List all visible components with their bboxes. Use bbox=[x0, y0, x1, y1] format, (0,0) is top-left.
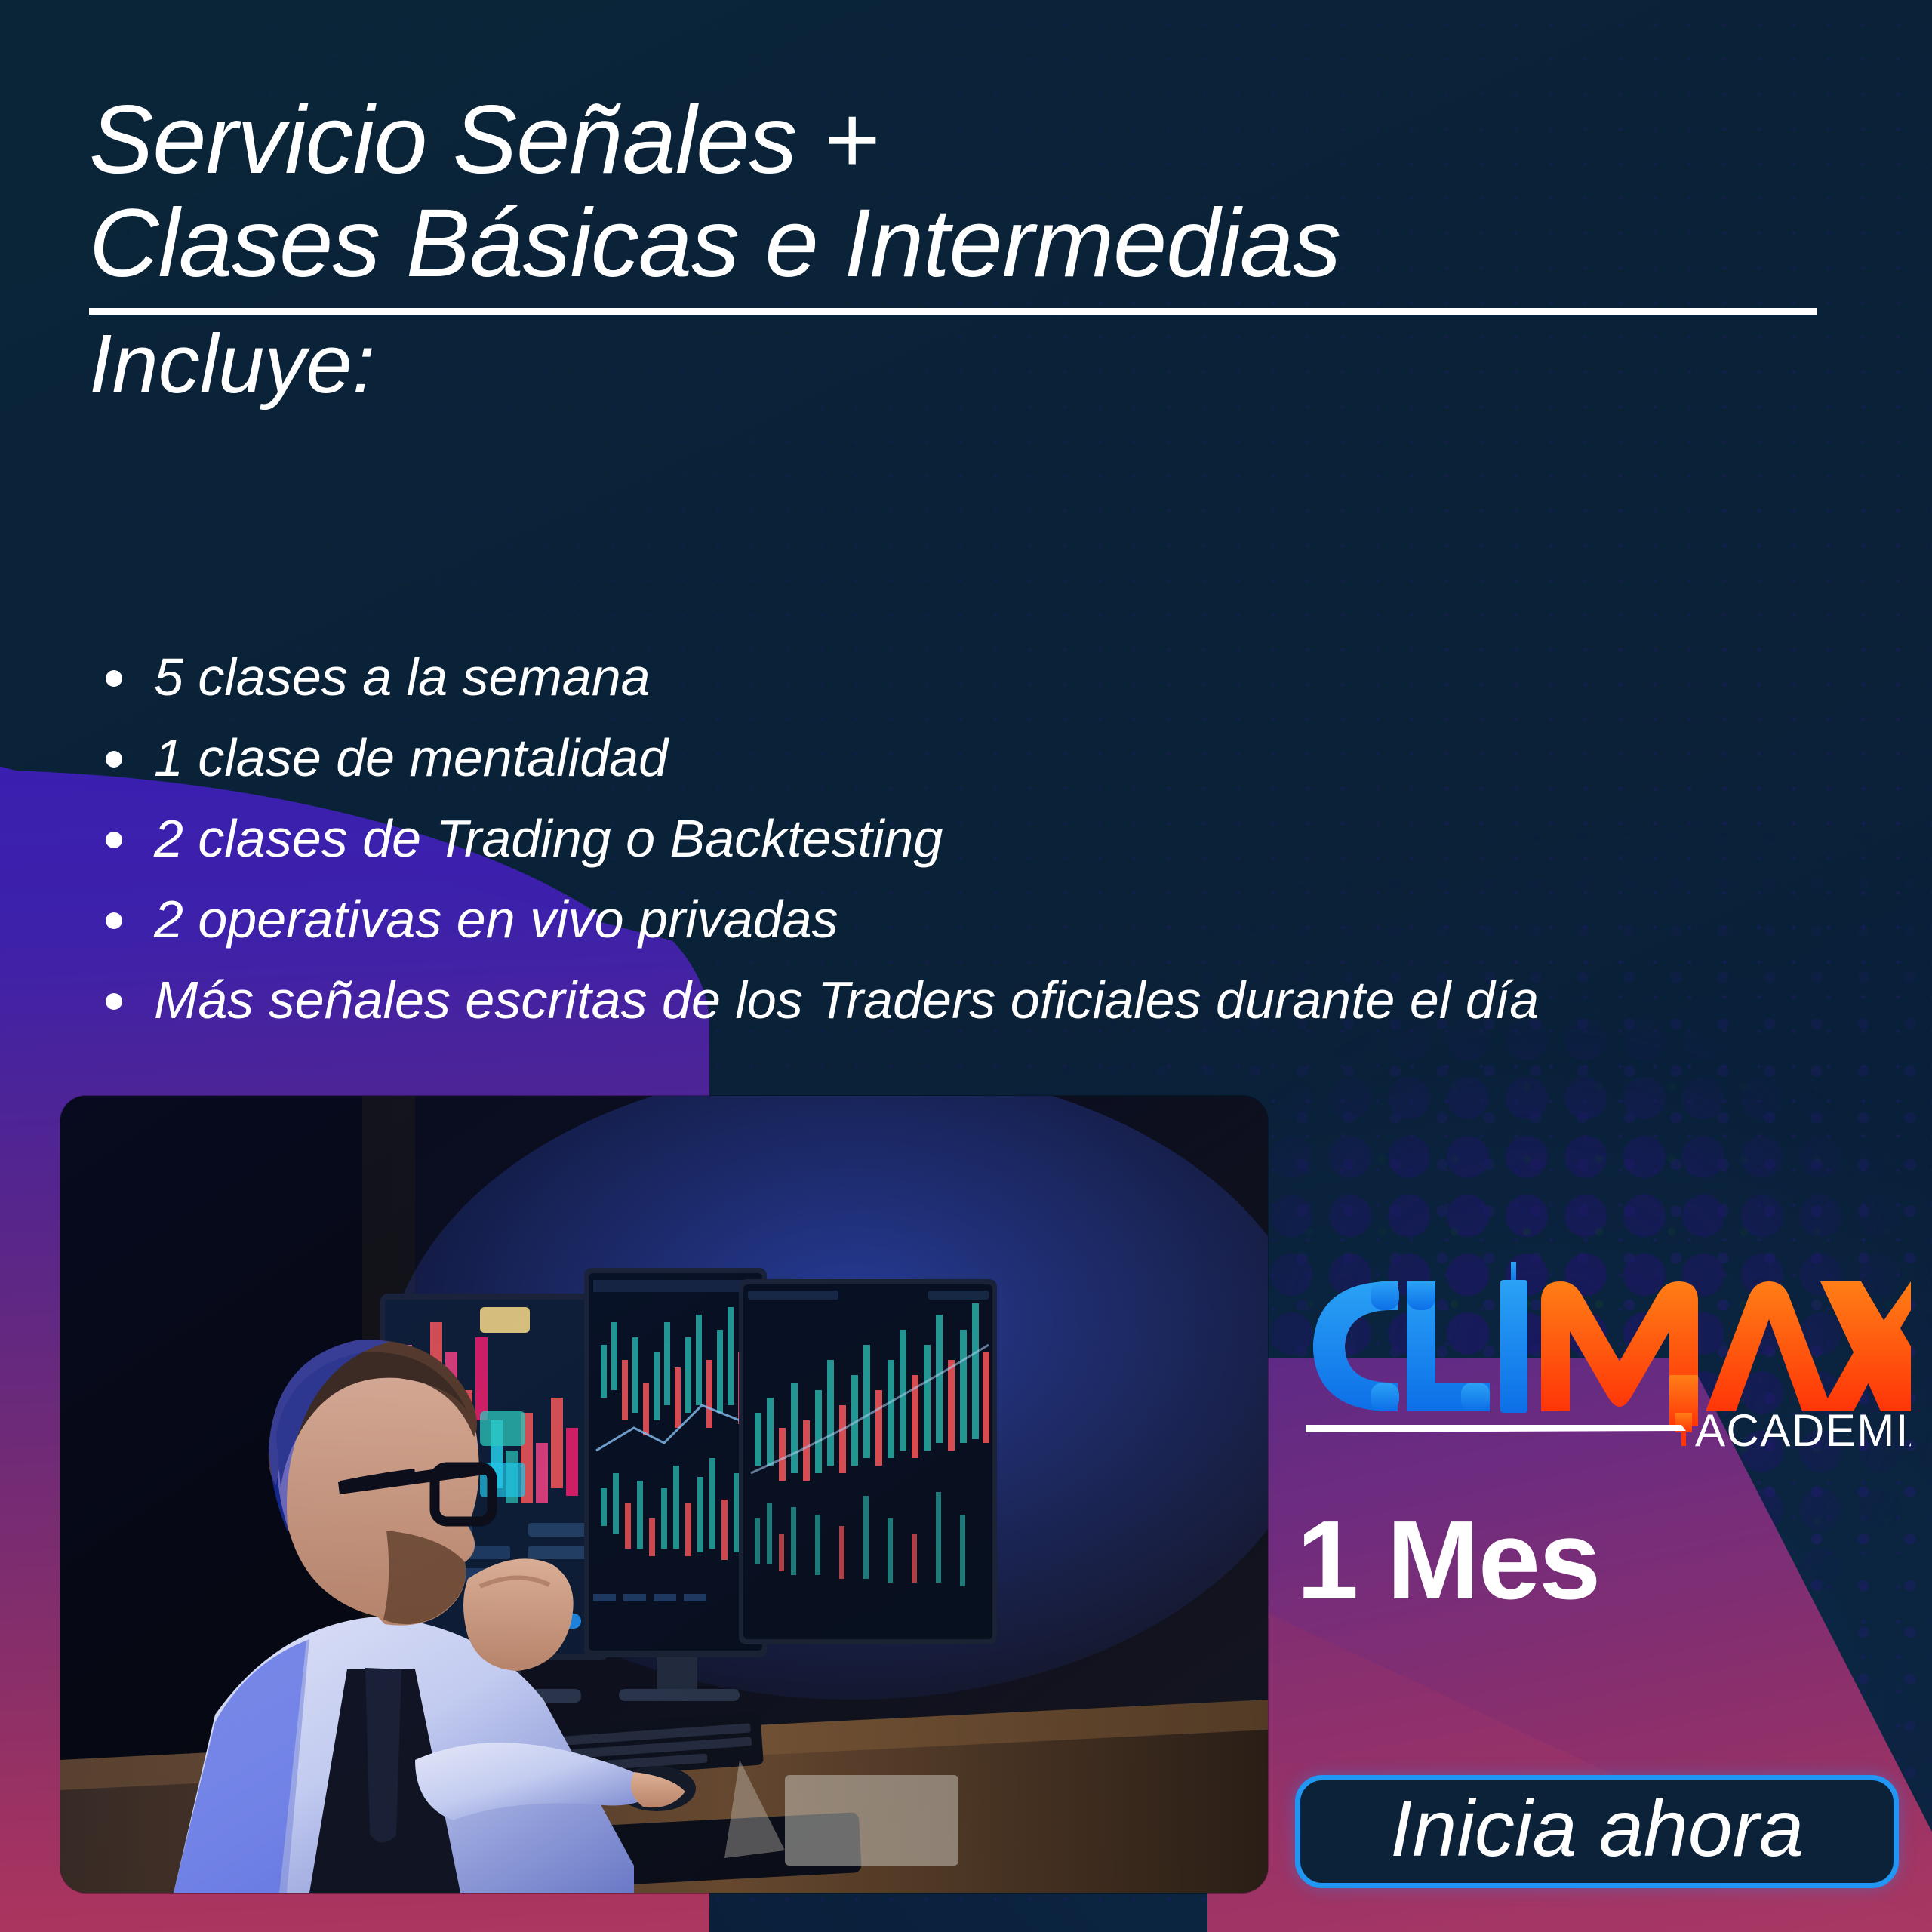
trading-desk-photo bbox=[60, 1096, 1268, 1893]
page-title-line1: Servicio Señales + bbox=[89, 89, 1855, 192]
candle-wick-orange bbox=[1681, 1429, 1686, 1446]
start-now-button[interactable]: Inicia ahora bbox=[1295, 1775, 1899, 1888]
logo-underline bbox=[1306, 1425, 1686, 1432]
list-item-label: 1 clase de mentalidad bbox=[154, 728, 668, 787]
promo-poster: Servicio Señales + Clases Básicas e Inte… bbox=[0, 0, 1932, 1932]
logo-tagline: ACADEMIA bbox=[1695, 1405, 1911, 1452]
list-item: 1 clase de mentalidad bbox=[92, 731, 1888, 784]
list-item-label: 2 operativas en vivo privadas bbox=[154, 890, 838, 949]
bullet-dot-icon bbox=[106, 751, 122, 768]
list-item-label: Más señales escritas de los Traders ofic… bbox=[154, 971, 1539, 1029]
list-item: 2 clases de Trading o Backtesting bbox=[92, 812, 1888, 865]
bullet-dot-icon bbox=[106, 993, 122, 1010]
list-item: 2 operativas en vivo privadas bbox=[92, 893, 1888, 946]
climax-logo: ACADEMIA bbox=[1292, 1262, 1911, 1452]
list-item: Más señales escritas de los Traders ofic… bbox=[92, 974, 1888, 1026]
includes-label: Incluye: bbox=[89, 321, 1855, 408]
bullet-dot-icon bbox=[106, 832, 122, 848]
bullet-dot-icon bbox=[106, 670, 122, 687]
features-list: 5 clases a la semana 1 clase de mentalid… bbox=[92, 651, 1888, 1054]
bullet-dot-icon bbox=[106, 912, 122, 929]
title-divider bbox=[89, 308, 1817, 315]
list-item-label: 5 clases a la semana bbox=[154, 648, 651, 706]
list-item: 5 clases a la semana bbox=[92, 651, 1888, 703]
list-item-label: 2 clases de Trading o Backtesting bbox=[154, 809, 943, 868]
page-header: Servicio Señales + Clases Básicas e Inte… bbox=[89, 89, 1855, 408]
offer-term: 1 Mes bbox=[1297, 1505, 1599, 1617]
start-now-label: Inicia ahora bbox=[1390, 1789, 1804, 1869]
page-title-line2: Clases Básicas e Intermedias bbox=[89, 192, 1855, 296]
candle-body-blue bbox=[1500, 1280, 1527, 1413]
